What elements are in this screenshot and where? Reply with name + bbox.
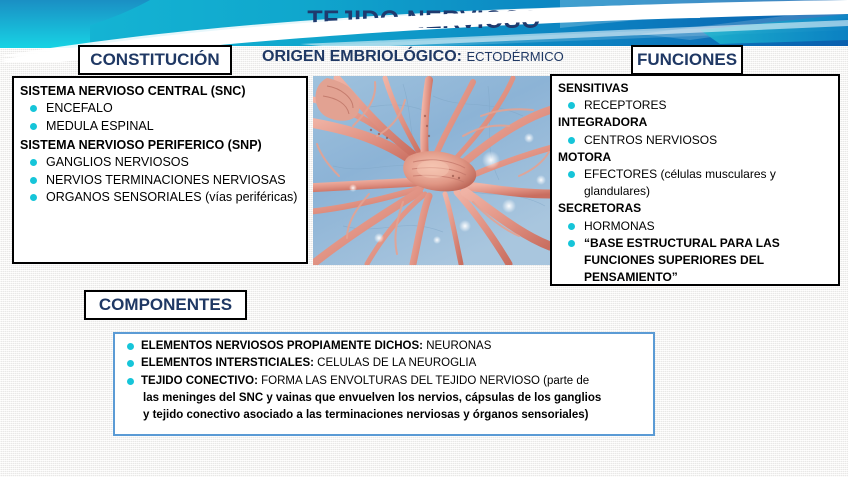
continuation-line: y tejido conectivo asociado a las termin…	[117, 407, 648, 424]
list-item: EFECTORES (células musculares y glandula…	[558, 166, 833, 200]
chip-componentes[interactable]: COMPONENTES	[84, 290, 247, 320]
origen-value: ECTODÉRMICO	[466, 49, 563, 64]
list-item-label: NERVIOS TERMINACIONES NERVIOSAS	[46, 172, 286, 190]
bullet-dot-icon	[30, 159, 37, 166]
list-item-label: ORGANOS SENSORIALES (vías periféricas)	[46, 189, 297, 207]
chip-componentes-label: COMPONENTES	[99, 295, 232, 315]
list-item-closing: “BASE ESTRUCTURAL PARA LAS FUNCIONES SUP…	[558, 235, 833, 286]
bullet-dot-icon	[30, 105, 37, 112]
list-item-label: HORMONAS	[584, 218, 655, 235]
bullet-dot-icon	[30, 194, 37, 201]
bullet-dot-icon	[127, 360, 134, 367]
list-item: ELEMENTOS INTERSTICIALES: CELULAS DE LA …	[117, 355, 648, 372]
origen-label: ORIGEN EMBRIOLÓGICO:	[262, 48, 462, 65]
term: ELEMENTOS NERVIOSOS PROPIAMENTE DICHOS:	[141, 340, 423, 352]
group-heading: MOTORA	[558, 149, 833, 166]
list-item-label: ELEMENTOS NERVIOSOS PROPIAMENTE DICHOS: …	[141, 338, 491, 355]
list-item: RECEPTORES	[558, 97, 833, 114]
list-item-label: ENCEFALO	[46, 100, 113, 118]
bullet-dot-icon	[568, 240, 575, 247]
bullet-dot-icon	[127, 343, 134, 350]
list-item: ORGANOS SENSORIALES (vías periféricas)	[20, 189, 301, 207]
desc: CELULAS DE LA NEUROGLIA	[314, 357, 476, 369]
list-item: GANGLIOS NERVIOSOS	[20, 154, 301, 172]
list-item-label: MEDULA ESPINAL	[46, 118, 154, 136]
term: ELEMENTOS INTERSTICIALES:	[141, 357, 314, 369]
list-item: TEJIDO CONECTIVO: FORMA LAS ENVOLTURAS D…	[117, 373, 648, 390]
list-item-label: GANGLIOS NERVIOSOS	[46, 154, 189, 172]
chip-funciones[interactable]: FUNCIONES	[631, 45, 743, 75]
bullet-dot-icon	[568, 102, 575, 109]
panel-constitucion: SISTEMA NERVIOSO CENTRAL (SNC) ENCEFALO …	[12, 76, 308, 264]
list-item-label: EFECTORES (células musculares y glandula…	[584, 166, 833, 200]
term: TEJIDO CONECTIVO:	[141, 375, 258, 387]
group-heading: SECRETORAS	[558, 200, 833, 217]
list-item: MEDULA ESPINAL	[20, 118, 301, 136]
list-item: HORMONAS	[558, 218, 833, 235]
list-item-label: RECEPTORES	[584, 97, 666, 114]
list-item: ENCEFALO	[20, 100, 301, 118]
chip-funciones-label: FUNCIONES	[637, 50, 737, 70]
list-item: ELEMENTOS NERVIOSOS PROPIAMENTE DICHOS: …	[117, 338, 648, 355]
panel-componentes: ELEMENTOS NERVIOSOS PROPIAMENTE DICHOS: …	[113, 332, 655, 436]
list-item-label: ELEMENTOS INTERSTICIALES: CELULAS DE LA …	[141, 355, 476, 372]
bullet-dot-icon	[30, 177, 37, 184]
group-heading: SISTEMA NERVIOSO CENTRAL (SNC)	[20, 82, 301, 100]
chip-constitucion[interactable]: CONSTITUCIÓN	[78, 45, 232, 75]
bullet-dot-icon	[568, 223, 575, 230]
list-item-label: TEJIDO CONECTIVO: FORMA LAS ENVOLTURAS D…	[141, 373, 589, 390]
slide-canvas: TEJIDO NERVIOSO CONSTITUCIÓN FUNCIONES O…	[0, 0, 848, 477]
group-heading: INTEGRADORA	[558, 114, 833, 131]
list-item: NERVIOS TERMINACIONES NERVIOSAS	[20, 172, 301, 190]
desc: FORMA LAS ENVOLTURAS DEL TEJIDO NERVIOSO…	[258, 375, 589, 387]
continuation-line: las meninges del SNC y vainas que envuel…	[117, 390, 648, 407]
group-heading: SENSITIVAS	[558, 80, 833, 97]
list-item-label: CENTROS NERVIOSOS	[584, 132, 717, 149]
chip-constitucion-label: CONSTITUCIÓN	[90, 50, 219, 70]
closing-statement: “BASE ESTRUCTURAL PARA LAS FUNCIONES SUP…	[584, 235, 833, 286]
list-item: CENTROS NERVIOSOS	[558, 132, 833, 149]
origen-embriologico: ORIGEN EMBRIOLÓGICO: ECTODÉRMICO	[262, 48, 564, 66]
bullet-dot-icon	[568, 137, 575, 144]
bullet-dot-icon	[30, 123, 37, 130]
desc: NEURONAS	[423, 340, 491, 352]
bullet-dot-icon	[127, 378, 134, 385]
panel-funciones: SENSITIVAS RECEPTORES INTEGRADORA CENTRO…	[550, 74, 840, 286]
neuron-illustration	[313, 76, 550, 265]
group-heading: SISTEMA NERVIOSO PERIFERICO (SNP)	[20, 136, 301, 154]
bullet-dot-icon	[568, 171, 575, 178]
